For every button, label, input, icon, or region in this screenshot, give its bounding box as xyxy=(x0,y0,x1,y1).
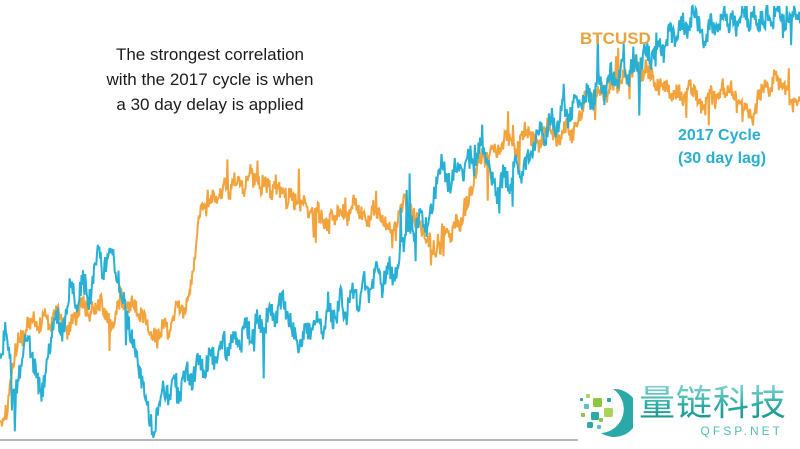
chart-annotation-text: The strongest correlation with the 2017 … xyxy=(60,42,360,117)
watermark-brand-cn: 量链科技 xyxy=(639,385,787,423)
series-label-2017-cycle: 2017 Cycle (30 day lag) xyxy=(678,124,766,170)
watermark: 量链科技 QFSP.NET xyxy=(575,378,800,444)
chart-figure: The strongest correlation with the 2017 … xyxy=(0,0,800,449)
series-label-btcusd: BTCUSD xyxy=(580,27,651,50)
watermark-domain: QFSP.NET xyxy=(701,424,783,438)
qfsp-logo-icon xyxy=(575,382,633,440)
